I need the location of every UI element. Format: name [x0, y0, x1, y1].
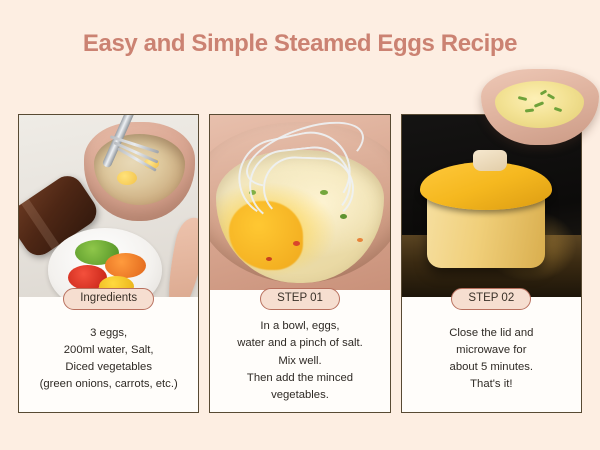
infographic-page: Easy and Simple Steamed Eggs Recipe: [0, 0, 600, 450]
chive-garnish: [539, 89, 547, 95]
chive-garnish: [546, 93, 554, 100]
badge-container-ingredients: Ingredients: [19, 288, 198, 310]
chive-garnish: [554, 107, 563, 112]
lid-knob-icon: [473, 150, 507, 172]
finished-dish-inset: [481, 69, 599, 145]
badge-container-step-02: STEP 02: [402, 288, 581, 310]
carrot-pile-icon: [105, 253, 146, 278]
recipe-card-ingredients: Ingredients 3 eggs, 200ml water, Salt, D…: [18, 114, 199, 413]
chive-garnish: [525, 109, 534, 113]
whisk-icon: [104, 115, 177, 193]
chive-garnish: [534, 101, 544, 108]
recipe-card-row: Ingredients 3 eggs, 200ml water, Salt, D…: [18, 114, 582, 413]
steamed-egg-icon: [495, 81, 585, 128]
caption-step-02: Close the lid and microwave for about 5 …: [402, 297, 581, 412]
pink-bowl-icon: [481, 69, 599, 145]
recipe-card-step-02: STEP 02 Close the lid and microwave for …: [401, 114, 582, 413]
badge-step-01: STEP 01: [260, 288, 340, 310]
ingredients-photo: [19, 115, 198, 297]
badge-ingredients: Ingredients: [63, 288, 154, 310]
badge-container-step-01: STEP 01: [210, 288, 389, 310]
caption-ingredients: 3 eggs, 200ml water, Salt, Diced vegetab…: [19, 297, 198, 412]
page-title: Easy and Simple Steamed Eggs Recipe: [0, 30, 600, 58]
badge-step-02: STEP 02: [451, 288, 531, 310]
whisk-icon: [246, 126, 386, 249]
step-01-photo: [210, 115, 389, 290]
chive-garnish: [518, 96, 527, 101]
vegetable-fleck: [266, 257, 272, 261]
recipe-card-step-01: STEP 01 In a bowl, eggs, water and a pin…: [209, 114, 390, 413]
